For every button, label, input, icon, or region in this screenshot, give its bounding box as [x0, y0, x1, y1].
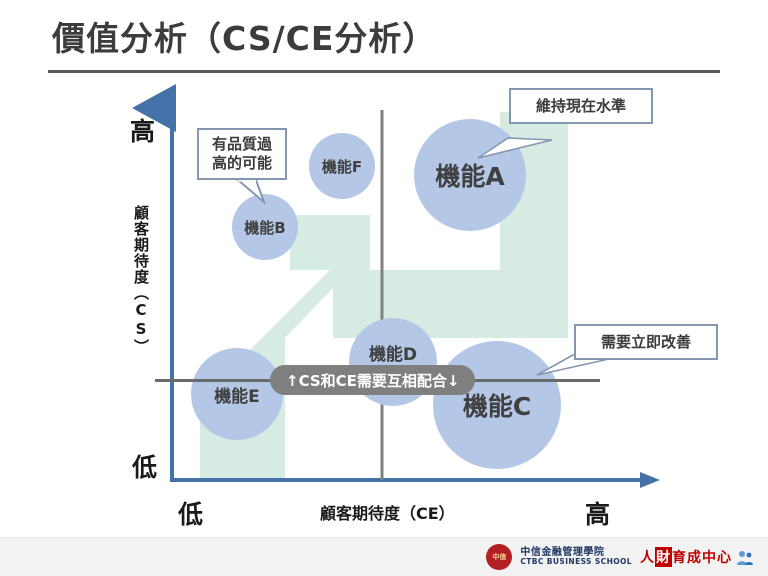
training-center-wordmark: 人 財 育成中心: [640, 547, 754, 567]
y-axis-low-label: 低: [132, 448, 157, 484]
callout-improve-now-label: 需要立即改善: [601, 333, 691, 352]
bubble-function-c[interactable]: 機能C: [433, 341, 561, 469]
x-axis-arrow-icon: [640, 472, 660, 488]
slide-footer: 中信 中信金融管理學院 CTBC BUSINESS SCHOOL 人 財 育成中…: [0, 537, 768, 576]
title-divider: [48, 70, 720, 73]
bubble-label-a: 機能A: [435, 157, 504, 193]
bubble-function-a[interactable]: 機能A: [414, 119, 526, 231]
ctbc-name-en: CTBC BUSINESS SCHOOL: [520, 558, 632, 566]
slide-root: 價值分析（CS/CE分析）: [0, 0, 768, 576]
ctbc-wordmark: 中信金融管理學院 CTBC BUSINESS SCHOOL: [520, 548, 632, 566]
ctbc-seal-label: 中信: [492, 554, 506, 561]
callout-maintain-level[interactable]: 維持現在水準: [509, 88, 653, 124]
callout-maintain-level-label: 維持現在水準: [536, 97, 626, 116]
center-char-2: 財: [655, 547, 672, 567]
bubble-function-e[interactable]: 機能E: [191, 348, 283, 440]
cs-ce-matrix-chart: 機能F 機能A 機能B 機能D 機能E 機能C ↑CS和CE需要互相配合↓ 有品…: [0, 80, 768, 520]
y-axis-title: 顧客期待度（CS）: [133, 205, 148, 355]
chart-svg: [0, 80, 768, 520]
bubble-label-b: 機能B: [244, 217, 285, 238]
bubble-function-b[interactable]: 機能B: [232, 194, 298, 260]
x-axis-high-label: 高: [585, 495, 610, 531]
balance-banner: ↑CS和CE需要互相配合↓: [270, 365, 475, 395]
callout-improve-now[interactable]: 需要立即改善: [574, 324, 718, 360]
footer-branding: 中信 中信金融管理學院 CTBC BUSINESS SCHOOL 人 財 育成中…: [486, 542, 754, 572]
x-axis-title: 顧客期待度（CE）: [320, 500, 455, 524]
ctbc-seal-icon: 中信: [486, 544, 512, 570]
bubble-label-f: 機能F: [322, 156, 362, 177]
center-char-3: 育成中心: [672, 547, 732, 567]
bubble-function-f[interactable]: 機能F: [309, 133, 375, 199]
page-title: 價值分析（CS/CE分析）: [52, 12, 436, 60]
people-icon: [736, 549, 754, 565]
bubble-label-e: 機能E: [214, 382, 260, 407]
bubble-label-d: 機能D: [369, 340, 417, 365]
callout-quality-excess[interactable]: 有品質過 高的可能: [197, 128, 287, 180]
balance-banner-label: ↑CS和CE需要互相配合↓: [286, 370, 459, 391]
callout-quality-excess-line1: 有品質過: [212, 135, 272, 154]
bubble-label-c: 機能C: [463, 387, 531, 423]
callout-quality-excess-line2: 高的可能: [212, 154, 272, 173]
x-axis-low-label: 低: [178, 495, 203, 531]
center-char-1: 人: [640, 547, 655, 567]
y-axis-high-label: 高: [130, 112, 155, 148]
